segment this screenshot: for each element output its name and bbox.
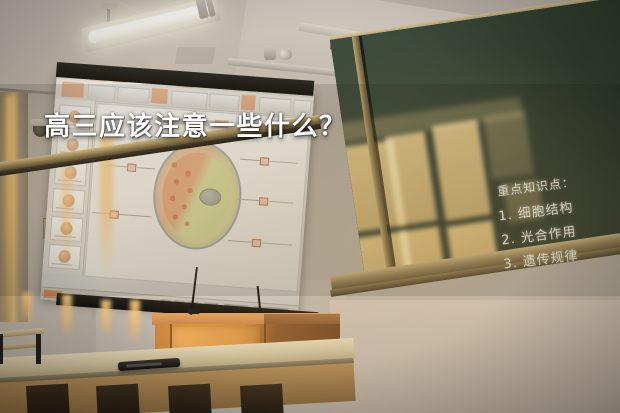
classroom-photo: 重点知识点： 1. 细胞结构 2. 光合作用 3. 遗传规律	[0, 0, 620, 413]
light-ceiling-mount	[100, 3, 117, 9]
diagram-label-line	[270, 161, 298, 164]
slide-thumbnail[interactable]	[50, 216, 84, 242]
wall-light-stripe	[62, 294, 72, 336]
cell-diagram-icon	[149, 139, 245, 253]
wall-light-stripe	[130, 300, 140, 344]
diagram-leader-line	[118, 214, 152, 217]
page-title: 高三应该注意一些什么？	[44, 106, 347, 143]
diagram-label-box	[259, 197, 269, 206]
desk-opening	[168, 384, 212, 413]
diagram-label-box	[252, 239, 262, 248]
diagram-label-line	[107, 165, 127, 167]
desk-opening	[240, 384, 284, 413]
ribbon-group	[87, 84, 116, 101]
diagram-label-box	[109, 210, 119, 219]
diagram-label-line	[269, 201, 293, 204]
screen-roller-bracket	[264, 46, 276, 60]
microphone-base	[188, 308, 200, 314]
cell-organelles	[163, 155, 202, 233]
diagram-label-box	[260, 157, 270, 166]
shelf-leg	[36, 334, 41, 364]
ceiling-vent	[175, 47, 215, 64]
diagram-leader-line	[240, 159, 260, 161]
desk-opening	[96, 384, 140, 413]
shelf-leg	[0, 334, 3, 364]
ribbon-group	[117, 87, 150, 104]
diagram-label-line	[262, 242, 292, 245]
screen-roller-knob	[278, 49, 292, 60]
diagram-leader-line	[228, 240, 252, 243]
wall-light-stripe	[101, 300, 111, 336]
slide-thumbnail[interactable]	[52, 188, 86, 214]
diagram-label-line	[92, 212, 110, 214]
desk-opening	[26, 384, 70, 413]
curtain-sunlight-glow	[6, 96, 16, 311]
ribbon-button	[151, 88, 168, 104]
ribbon-button	[61, 81, 84, 98]
slide-thumbnail[interactable]	[48, 244, 82, 270]
wall-light-stripe	[22, 292, 32, 326]
diagram-leader-line	[137, 167, 155, 169]
diagram-label-box	[127, 163, 137, 172]
